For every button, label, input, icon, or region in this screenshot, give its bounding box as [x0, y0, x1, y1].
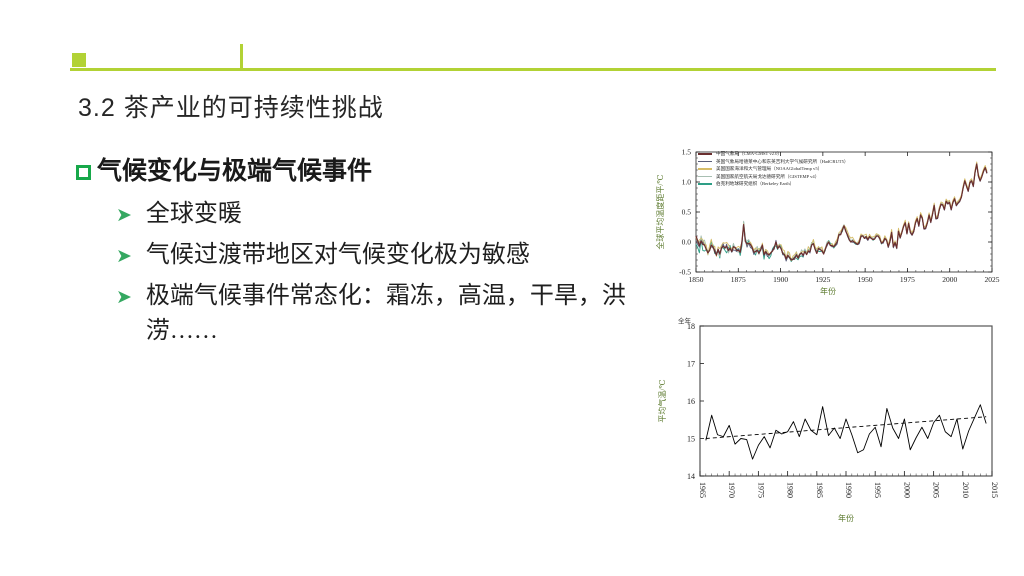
- bullet-level2-label: 全球变暖: [146, 197, 656, 232]
- x-tick-label: 1965: [698, 482, 707, 498]
- legend-color-swatch: [698, 161, 712, 163]
- legend-label: 美国国家海洋和大气管理局（NOAAGlobalTemp v5）: [716, 166, 822, 172]
- legend-color-swatch: [698, 153, 712, 155]
- arrow-bullet-icon: ➤: [116, 288, 132, 307]
- bullet-level2-item: ➤ 极端气候事件常态化：霜冻，高温，干旱，洪涝……: [116, 279, 656, 349]
- chart-annual-mean-temperature-svg: 1415161718196519701975198019851990199520…: [652, 316, 1004, 538]
- deco-line-right: [240, 68, 996, 71]
- legend-item: 英国气象局哈德莱中心和东英吉利大学气候研究所（HadCRUT5）: [698, 159, 848, 165]
- legend-color-swatch: [698, 176, 712, 178]
- hollow-square-bullet-icon: [76, 165, 91, 180]
- y-tick-label: 15: [687, 434, 695, 443]
- chart-global-temperature-anomaly: -0.50.00.51.01.5185018751900192519501975…: [652, 140, 1004, 310]
- legend-color-swatch: [698, 183, 712, 185]
- x-tick-label: 1875: [731, 275, 746, 284]
- x-tick-label: 1950: [858, 275, 873, 284]
- content-body: 气候变化与极端气候事件 ➤ 全球变暖 ➤ 气候过渡带地区对气候变化极为敏感 ➤ …: [76, 156, 656, 354]
- legend-label: 中国气象局（CMA-GMST v2.0）: [716, 151, 782, 157]
- x-tick-label: 2025: [985, 275, 1000, 284]
- x-tick-label: 2010: [961, 482, 970, 498]
- chart-annual-mean-temperature: 1415161718196519701975198019851990199520…: [652, 316, 1004, 538]
- y-axis-label: 全球平均温度距平/℃: [655, 174, 665, 249]
- header-decoration: [0, 0, 1024, 80]
- bullet-level2-item: ➤ 全球变暖: [116, 197, 656, 232]
- deco-line-left: [70, 68, 240, 71]
- bullet-level1-label: 气候变化与极端气候事件: [97, 156, 372, 187]
- y-tick-label: 0.0: [682, 238, 692, 247]
- x-tick-label: 1900: [773, 275, 788, 284]
- y-tick-label: 17: [687, 359, 695, 368]
- x-tick-label: 1980: [786, 482, 795, 498]
- legend-item: 伯克利地球研究组织（Berkeley Earth）: [698, 181, 848, 187]
- y-axis-label: 平均气温/℃: [657, 379, 667, 422]
- x-tick-label: 1975: [756, 482, 765, 498]
- x-tick-label: 1970: [727, 482, 736, 498]
- deco-line-vertical: [240, 44, 243, 71]
- bullet-level2-label: 极端气候事件常态化：霜冻，高温，干旱，洪涝……: [146, 279, 656, 349]
- y-tick-label: 14: [687, 472, 695, 481]
- legend-label: 伯克利地球研究组织（Berkeley Earth）: [716, 181, 794, 187]
- x-tick-label: 2005: [932, 482, 941, 498]
- legend-label: 英国气象局哈德莱中心和东英吉利大学气候研究所（HadCRUT5）: [716, 159, 848, 165]
- legend-item: 美国国家海洋和大气管理局（NOAAGlobalTemp v5）: [698, 166, 848, 172]
- bullet-level2-item: ➤ 气候过渡带地区对气候变化极为敏感: [116, 238, 656, 273]
- chart-line-annual: [706, 405, 986, 459]
- chart-frame: [700, 326, 992, 476]
- y-tick-label: 1.5: [682, 148, 692, 157]
- chart-legend: 中国气象局（CMA-GMST v2.0）英国气象局哈德莱中心和东英吉利大学气候研…: [698, 151, 848, 189]
- x-tick-label: 1850: [689, 275, 704, 284]
- x-tick-label: 2015: [990, 482, 999, 498]
- x-tick-label: 1925: [815, 275, 830, 284]
- arrow-bullet-icon: ➤: [116, 206, 132, 225]
- y-tick-label: 16: [687, 397, 695, 406]
- arrow-bullet-icon: ➤: [116, 247, 132, 266]
- x-axis-label: 年份: [820, 286, 836, 296]
- x-tick-label: 1995: [873, 482, 882, 498]
- x-tick-label: 1975: [900, 275, 915, 284]
- bullet-level2-label: 气候过渡带地区对气候变化极为敏感: [146, 238, 656, 273]
- x-axis-label: 年份: [838, 513, 854, 523]
- deco-square-accent: [72, 53, 86, 67]
- y-tick-label: 1.0: [682, 178, 692, 187]
- page-title: 3.2 茶产业的可持续性挑战: [78, 88, 384, 124]
- legend-label: 美国国家航空航天局戈达德研究所（GISTEMP v4）: [716, 174, 819, 180]
- x-tick-label: 1990: [844, 482, 853, 498]
- bullet-level1: 气候变化与极端气候事件: [76, 156, 656, 187]
- x-tick-label: 1985: [815, 482, 824, 498]
- x-tick-label: 2000: [902, 482, 911, 498]
- legend-color-swatch: [698, 168, 712, 170]
- charts-column: -0.50.00.51.01.5185018751900192519501975…: [652, 140, 1012, 538]
- legend-item: 美国国家航空航天局戈达德研究所（GISTEMP v4）: [698, 174, 848, 180]
- y-tick-label: 0.5: [682, 208, 692, 217]
- x-tick-label: 2000: [942, 275, 957, 284]
- legend-item: 中国气象局（CMA-GMST v2.0）: [698, 151, 848, 157]
- chart-annotation-whole-year: 全年: [678, 315, 691, 325]
